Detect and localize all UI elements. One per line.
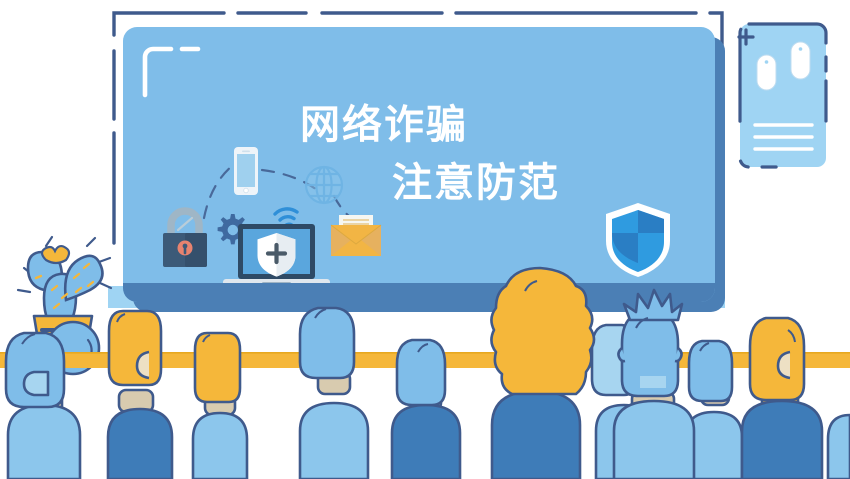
- notice-board[interactable]: [739, 24, 826, 167]
- person-11[interactable]: [828, 415, 850, 479]
- globe-icon: [306, 167, 342, 203]
- laptop-shield-icon[interactable]: [223, 224, 330, 291]
- person-6[interactable]: [491, 268, 594, 479]
- notice-board-panel: [740, 24, 826, 167]
- cactus-flower: [42, 246, 69, 263]
- notice-tag-left: [757, 55, 776, 90]
- notice-tag-right: [791, 42, 810, 79]
- slide-title-line1: 网络诈骗: [300, 102, 468, 148]
- slide-illustration: 网络诈骗 注意防范: [0, 0, 850, 479]
- projection-screen[interactable]: 网络诈骗 注意防范: [114, 13, 725, 312]
- smartphone-icon: [234, 147, 258, 195]
- screen-bottom-band: [123, 283, 715, 302]
- slide-title-line2: 注意防范: [392, 160, 560, 206]
